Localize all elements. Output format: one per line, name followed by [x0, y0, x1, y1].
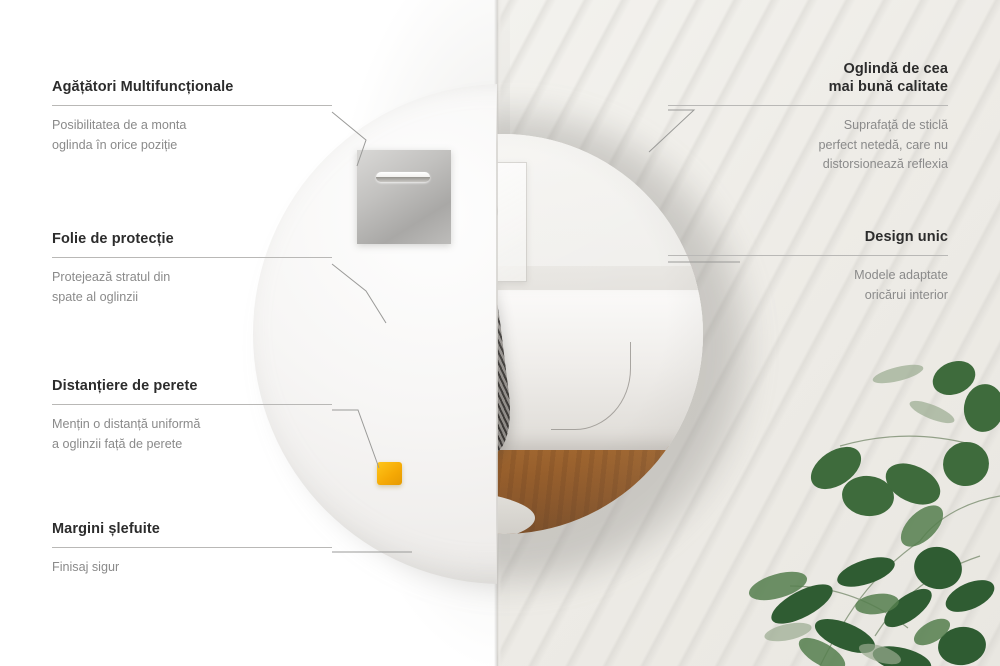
hanger-plate [357, 150, 451, 244]
callout-rule [52, 547, 332, 548]
mirror-edge [496, 84, 498, 584]
callout-calitate: Oglindă de cea mai bună calitate Suprafa… [668, 60, 948, 175]
callout-rule [52, 105, 332, 106]
callout-desc: Suprafață de sticlă perfect netedă, care… [668, 116, 948, 175]
callout-rule [668, 105, 948, 106]
callout-design: Design unic Modele adaptate oricărui int… [668, 228, 948, 305]
callout-desc: Modele adaptate oricărui interior [668, 266, 948, 305]
hanger-keyhole-slot [376, 172, 431, 182]
callout-title: Agățători Multifuncționale [52, 78, 332, 96]
callout-folie: Folie de protecție Protejează stratul di… [52, 230, 332, 307]
callout-desc: Protejează stratul din spate al oglinzii [52, 268, 332, 307]
callout-title: Design unic [668, 228, 948, 246]
callout-rule [668, 255, 948, 256]
callout-desc: Mențin o distanță uniformă a oglinzii fa… [52, 415, 332, 454]
wall-spacer [377, 462, 402, 485]
callout-title: Distanțiere de perete [52, 377, 332, 395]
callout-agatatori: Agățători Multifuncționale Posibilitatea… [52, 78, 332, 155]
callout-margini: Margini șlefuite Finisaj sigur [52, 520, 332, 578]
foliage-decoration [670, 336, 1000, 666]
callout-title: Margini șlefuite [52, 520, 332, 538]
callout-desc: Finisaj sigur [52, 558, 332, 578]
callout-distantiere: Distanțiere de perete Mențin o distanță … [52, 377, 332, 454]
infographic-stage: Agățători Multifuncționale Posibilitatea… [0, 0, 1000, 666]
callout-title: Oglindă de cea mai bună calitate [668, 60, 948, 96]
callout-title: Folie de protecție [52, 230, 332, 248]
callout-rule [52, 404, 332, 405]
callout-desc: Posibilitatea de a monta oglinda în oric… [52, 116, 332, 155]
callout-rule [52, 257, 332, 258]
